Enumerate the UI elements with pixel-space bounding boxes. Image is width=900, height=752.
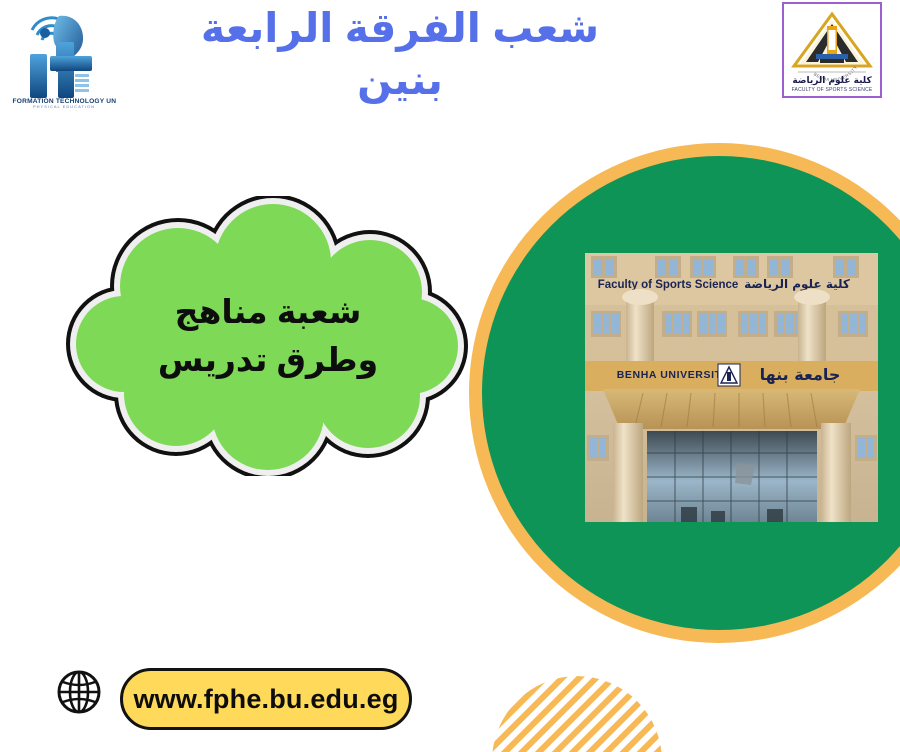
globe-icon (55, 668, 103, 716)
website-url-label: www.fphe.bu.edu.eg (133, 684, 398, 715)
building-sign-arabic-bottom: جامعة بنها (760, 365, 841, 384)
it-unit-logo: INFORMATION TECHNOLOGY UNIT PHYSICAL EDU… (12, 2, 116, 110)
building-sign-arabic-top: كلية علوم الرياضة (744, 277, 850, 292)
page-title-line1: شعب الفرقة الرابعة (180, 2, 620, 54)
page-title: شعب الفرقة الرابعة بنين (180, 2, 620, 107)
cloud-callout: شعبة مناهج وطرق تدريس (58, 196, 478, 476)
faculty-logo-english: FACULTY OF SPORTS SCIENCE (792, 87, 873, 93)
building-sign-english-bottom: BENHA UNIVERSITY (617, 369, 729, 381)
benha-university-crest-icon (718, 364, 740, 386)
decorative-striped-circle (492, 676, 662, 752)
faculty-of-sports-science-logo: BENHA UNIVERSITY كلية علوم الرياضة FACUL… (782, 2, 882, 98)
page-title-line2: بنين (180, 54, 620, 106)
it-logo-line2: PHYSICAL EDUCATION (33, 104, 95, 109)
faculty-building-photo: Faculty of Sports Science كلية علوم الري… (585, 253, 878, 522)
building-sign-english-top: Faculty of Sports Science (598, 279, 739, 291)
faculty-logo-arabic: كلية علوم الرياضة (792, 76, 872, 86)
slide-canvas: INFORMATION TECHNOLOGY UNIT PHYSICAL EDU… (0, 0, 900, 752)
website-url-button[interactable]: www.fphe.bu.edu.eg (120, 668, 412, 730)
